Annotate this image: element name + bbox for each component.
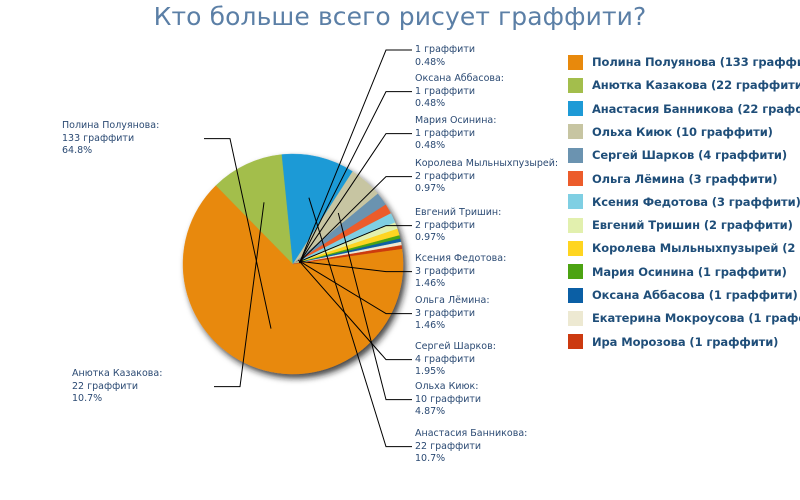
legend-color-swatch xyxy=(568,78,583,93)
legend-item-label: Оксана Аббасова (1 граффити) xyxy=(592,288,798,302)
legend-item[interactable]: Анастасия Банникова (22 граффити) xyxy=(568,97,800,121)
callout-value: 10 граффити xyxy=(415,394,481,407)
pie-callout-label: Евгений Тришин:2 граффити0.97% xyxy=(415,207,501,245)
callout-percent: 0.97% xyxy=(415,183,558,196)
legend-item[interactable]: Мария Осинина (1 граффити) xyxy=(568,260,800,284)
legend-item[interactable]: Оксана Аббасова (1 граффити) xyxy=(568,283,800,307)
callout-value: 1 граффити xyxy=(415,44,475,57)
callout-percent: 0.48% xyxy=(415,140,496,153)
callout-name: Сергей Шарков: xyxy=(415,341,496,354)
callout-name: Полина Полуянова: xyxy=(62,120,159,133)
legend-item-label: Екатерина Мокроусова (1 граффити) xyxy=(592,311,800,325)
pie-callout-label: Анастасия Банникова:22 граффити10.7% xyxy=(415,428,527,466)
legend-item-label: Анастасия Банникова (22 граффити) xyxy=(592,102,800,116)
callout-percent: 1.46% xyxy=(415,278,506,291)
legend-item[interactable]: Екатерина Мокроусова (1 граффити) xyxy=(568,306,800,330)
legend-color-swatch xyxy=(568,124,583,139)
callout-name: Анютка Казакова: xyxy=(72,368,162,381)
callout-percent: 0.48% xyxy=(415,57,475,70)
callout-percent: 64.8% xyxy=(62,145,159,158)
callout-value: 2 граффити xyxy=(415,171,558,184)
callout-percent: 10.7% xyxy=(415,453,527,466)
legend-item[interactable]: Полина Полуянова (133 граффити) xyxy=(568,50,800,74)
callout-value: 1 граффити xyxy=(415,128,496,141)
callout-name: Королева Мыльныхпузырей: xyxy=(415,158,558,171)
callout-percent: 10.7% xyxy=(72,393,162,406)
callout-name: Ксения Федотова: xyxy=(415,253,506,266)
callout-name: Мария Осинина: xyxy=(415,115,496,128)
legend-item-label: Королева Мыльныхпузырей (2 граффити) xyxy=(592,241,800,255)
pie-callout-label: Мария Осинина:1 граффити0.48% xyxy=(415,115,496,153)
pie-callout-label: Полина Полуянова:133 граффити64.8% xyxy=(62,120,159,158)
legend: Полина Полуянова (133 граффити)Анютка Ка… xyxy=(568,50,800,350)
legend-color-swatch xyxy=(568,241,583,256)
legend-color-swatch xyxy=(568,218,583,233)
callout-value: 1 граффити xyxy=(415,86,504,99)
callout-percent: 1.46% xyxy=(415,320,490,333)
callout-value: 22 граффити xyxy=(415,441,527,454)
legend-item-label: Анютка Казакова (22 граффити) xyxy=(592,78,800,92)
legend-item-label: Евгений Тришин (2 граффити) xyxy=(592,218,793,232)
legend-color-swatch xyxy=(568,148,583,163)
legend-item[interactable]: Королева Мыльныхпузырей (2 граффити) xyxy=(568,236,800,260)
legend-color-swatch xyxy=(568,264,583,279)
legend-item-label: Полина Полуянова (133 граффити) xyxy=(592,55,800,69)
callout-name: Ольга Лёмина: xyxy=(415,295,490,308)
pie-callout-label: Сергей Шарков:4 граффити1.95% xyxy=(415,341,496,379)
legend-color-swatch xyxy=(568,55,583,70)
chart-canvas: Кто больше всего рисует граффити? 1 граф… xyxy=(0,0,800,500)
legend-item[interactable]: Ольга Лёмина (3 граффити) xyxy=(568,167,800,191)
callout-value: 22 граффити xyxy=(72,381,162,394)
legend-item[interactable]: Ира Морозова (1 граффити) xyxy=(568,330,800,354)
pie-callout-label: 1 граффити0.48% xyxy=(415,44,475,69)
pie-callout-label: Анютка Казакова:22 граффити10.7% xyxy=(72,368,162,406)
callout-percent: 1.95% xyxy=(415,366,496,379)
legend-color-swatch xyxy=(568,101,583,116)
callout-name: Ольха Киюк: xyxy=(415,381,481,394)
legend-item-label: Ольха Киюк (10 граффити) xyxy=(592,125,773,139)
legend-color-swatch xyxy=(568,194,583,209)
callout-name: Евгений Тришин: xyxy=(415,207,501,220)
callout-percent: 0.48% xyxy=(415,98,504,111)
legend-item[interactable]: Евгений Тришин (2 граффити) xyxy=(568,213,800,237)
legend-color-swatch xyxy=(568,334,583,349)
legend-item-label: Мария Осинина (1 граффити) xyxy=(592,265,787,279)
callout-value: 3 граффити xyxy=(415,308,490,321)
legend-color-swatch xyxy=(568,288,583,303)
legend-item-label: Ксения Федотова (3 граффити) xyxy=(592,195,800,209)
callout-value: 133 граффити xyxy=(62,133,159,146)
legend-item-label: Ира Морозова (1 граффити) xyxy=(592,335,778,349)
callout-name: Анастасия Банникова: xyxy=(415,428,527,441)
callout-name: Оксана Аббасова: xyxy=(415,73,504,86)
legend-item-label: Сергей Шарков (4 граффити) xyxy=(592,148,787,162)
callout-value: 3 граффити xyxy=(415,266,506,279)
legend-item[interactable]: Ксения Федотова (3 граффити) xyxy=(568,190,800,214)
callout-percent: 4.87% xyxy=(415,406,481,419)
legend-item[interactable]: Ольха Киюк (10 граффити) xyxy=(568,120,800,144)
pie-callout-label: Ольга Лёмина:3 граффити1.46% xyxy=(415,295,490,333)
legend-color-swatch xyxy=(568,311,583,326)
legend-item[interactable]: Сергей Шарков (4 граффити) xyxy=(568,143,800,167)
callout-value: 4 граффити xyxy=(415,354,496,367)
pie-callout-label: Королева Мыльныхпузырей:2 граффити0.97% xyxy=(415,158,558,196)
legend-item-label: Ольга Лёмина (3 граффити) xyxy=(592,172,777,186)
callout-percent: 0.97% xyxy=(415,232,501,245)
pie-callout-label: Ольха Киюк:10 граффити4.87% xyxy=(415,381,481,419)
pie-callout-label: Оксана Аббасова:1 граффити0.48% xyxy=(415,73,504,111)
legend-color-swatch xyxy=(568,171,583,186)
pie-callout-label: Ксения Федотова:3 граффити1.46% xyxy=(415,253,506,291)
legend-item[interactable]: Анютка Казакова (22 граффити) xyxy=(568,73,800,97)
callout-value: 2 граффити xyxy=(415,220,501,233)
